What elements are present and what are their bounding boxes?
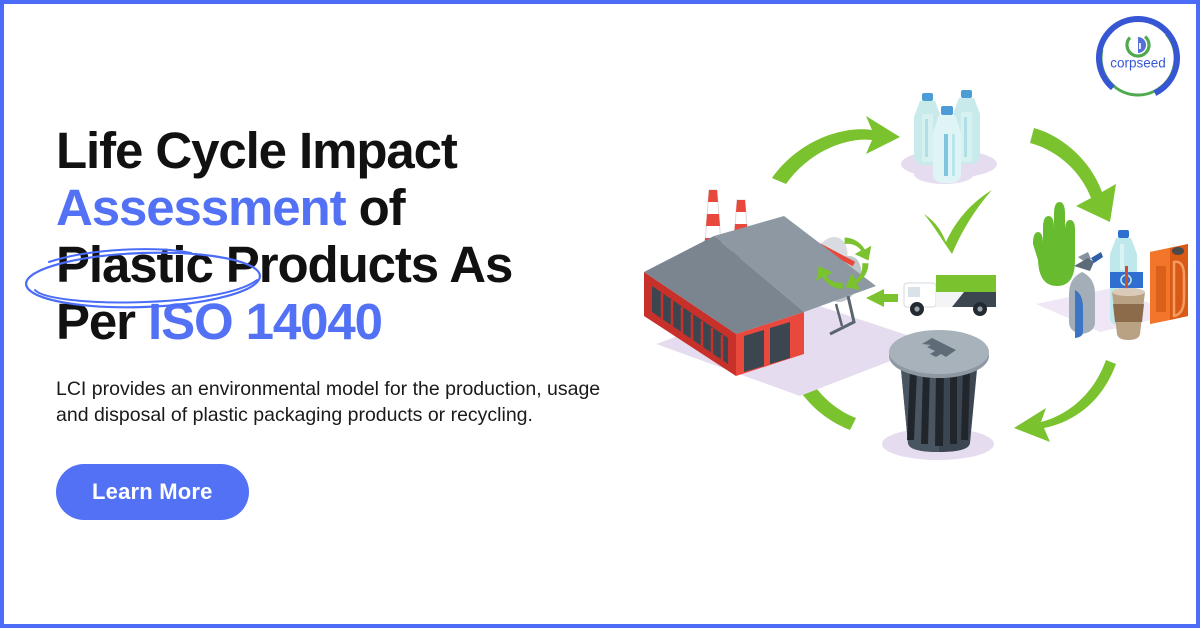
headline-accent-iso: ISO 14040 (148, 293, 382, 350)
page-title: Life Cycle Impact Assessment of Plastic … (56, 122, 656, 350)
plastic-bottles-icon (901, 90, 997, 184)
trash-bin-icon (882, 330, 994, 460)
headline-line-1: Life Cycle Impact (56, 122, 656, 179)
banner: corpseed Life Cycle Impact Assessment of… (0, 0, 1200, 628)
learn-more-button[interactable]: Learn More (56, 464, 249, 520)
plastic-products-icon (1033, 202, 1188, 340)
hand-icon (1033, 202, 1075, 286)
headline-line-3: Plastic Products As (56, 236, 656, 293)
headline-text-3: Products As (213, 236, 512, 293)
headline-text-4: Per (56, 293, 148, 350)
arrow-factory-to-bottles-icon (772, 116, 900, 184)
arrow-products-to-trash-icon (1014, 360, 1116, 442)
hero-content: Life Cycle Impact Assessment of Plastic … (56, 122, 656, 520)
factory-icon (644, 190, 934, 628)
check-icon (924, 190, 992, 254)
garbage-truck-icon (866, 275, 996, 316)
headline-line-4: Per ISO 14040 (56, 293, 656, 350)
subtitle: LCI provides an environmental model for … (56, 376, 626, 428)
headline-circled-plastic: Plastic (56, 236, 213, 293)
headline-text-2: of (346, 179, 405, 236)
jerrycan-icon (1150, 244, 1188, 324)
lifecycle-illustration (604, 4, 1200, 628)
headline-line-2: Assessment of (56, 179, 656, 236)
arrow-bottles-to-products-icon (1030, 128, 1116, 222)
headline-text-1: Life Cycle Impact (56, 122, 457, 179)
headline-accent-assessment: Assessment (56, 179, 346, 236)
